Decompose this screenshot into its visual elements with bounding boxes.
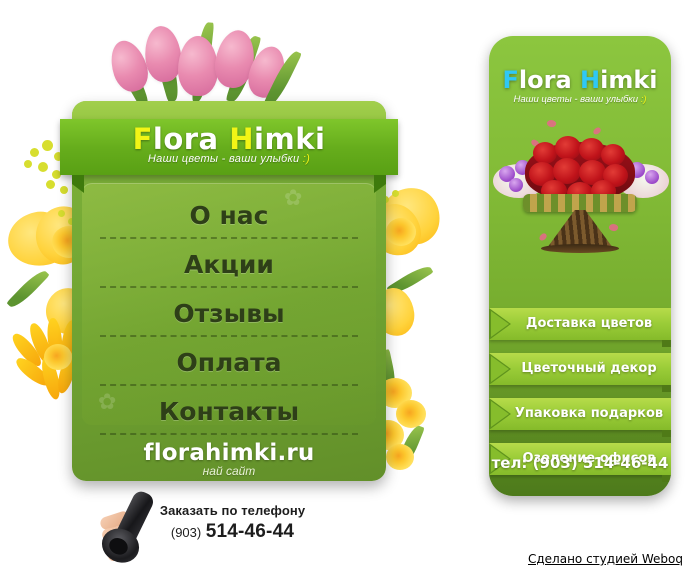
- nav-item-payment[interactable]: Оплата: [100, 345, 358, 386]
- nav-item-promotions[interactable]: Акции: [100, 247, 358, 288]
- order-by-phone-label: Заказать по телефону: [130, 503, 335, 518]
- service-label: Цветочный декор: [513, 353, 665, 385]
- main-navigation: О нас Акции Отзывы Оплата Контакты: [100, 198, 358, 435]
- chevron-right-inner-icon: [491, 356, 509, 382]
- banner-slogan-text: Наши цветы - ваши улыбки: [513, 94, 638, 105]
- banner-slogan-smiley: :): [641, 94, 647, 105]
- service-label: Упаковка подарков: [513, 398, 665, 430]
- ribbon-fold: [662, 475, 671, 482]
- site-slogan: Наши цветы - ваши улыбки :): [60, 153, 398, 165]
- order-by-phone-block: Заказать по телефону (903) 514-46-44: [130, 503, 335, 543]
- logo-second-letter: H: [229, 122, 254, 156]
- card-footer: florahimki.ru най сайт: [72, 440, 386, 478]
- ribbon-fold: [662, 385, 671, 392]
- site-url-link[interactable]: florahimki.ru: [72, 440, 386, 466]
- site-logo-banner: Flora Himki Наши цветы - ваши улыбки :): [60, 119, 398, 175]
- service-button-decor[interactable]: Цветочный декор: [489, 353, 671, 385]
- slogan-text: Наши цветы - ваши улыбки: [148, 153, 299, 165]
- logo-first-rest: lora: [153, 122, 219, 156]
- logo-first-letter: F: [133, 122, 153, 156]
- nav-item-reviews[interactable]: Отзывы: [100, 296, 358, 337]
- banner-slogan: Наши цветы - ваши улыбки :): [495, 94, 665, 105]
- order-phone-number: (903) 514-46-44: [130, 521, 335, 543]
- banner-phone-number: тел: (903) 514-46-44: [489, 454, 671, 472]
- banner-logo-title: Flora Himki: [495, 68, 665, 92]
- nav-item-contacts[interactable]: Контакты: [100, 394, 358, 435]
- side-banner: Flora Himki Наши цветы - ваши улыбки :): [489, 36, 671, 496]
- chevron-right-inner-icon: [491, 401, 509, 427]
- slogan-smiley: :): [303, 153, 310, 165]
- banner-logo-second-rest: imki: [600, 66, 657, 94]
- nav-item-about[interactable]: О нас: [100, 198, 358, 239]
- banner-logo-first-letter: F: [502, 66, 518, 94]
- banner-header: Flora Himki Наши цветы - ваши улыбки :): [489, 36, 671, 105]
- bouquet-illustration: [489, 108, 671, 258]
- chevron-right-inner-icon: [491, 311, 509, 337]
- site-logo-title: Flora Himki: [60, 124, 398, 154]
- banner-logo-second-letter: H: [580, 66, 600, 94]
- logo-second-rest: imki: [254, 122, 325, 156]
- service-button-delivery[interactable]: Доставка цветов: [489, 308, 671, 340]
- site-url-caption: най сайт: [72, 464, 386, 478]
- order-phone-area-code: (903): [171, 525, 201, 540]
- order-phone-digits: 514-46-44: [206, 521, 294, 542]
- studio-credit-link[interactable]: Сделано студией Weboq: [528, 552, 683, 566]
- ribbon-fold: [662, 340, 671, 347]
- service-label: Доставка цветов: [513, 308, 665, 340]
- banner-logo-first-rest: lora: [519, 66, 572, 94]
- left-composition: ✿ ✿ Flora Himki Наши цветы - ваши улыбки…: [0, 0, 460, 571]
- ribbon-fold: [662, 430, 671, 437]
- service-button-gift-wrapping[interactable]: Упаковка подарков: [489, 398, 671, 430]
